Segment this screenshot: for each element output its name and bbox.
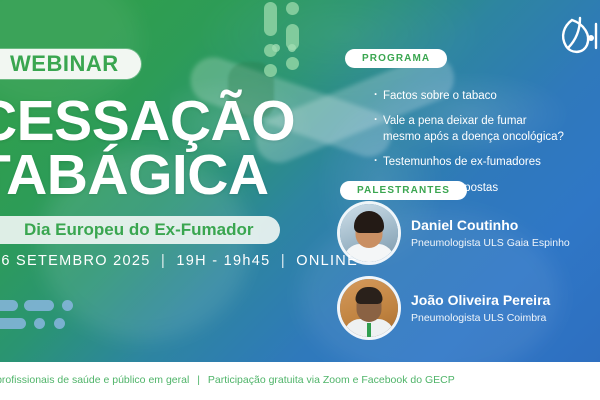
program-item-line-1: Testemunhos de ex-fumadores	[383, 156, 541, 168]
subtitle-label: Dia Europeu do Ex-Fumador	[24, 220, 254, 240]
event-date: 26 SETEMBRO 2025	[0, 253, 151, 269]
footer-access: Participação gratuita via Zoom e Faceboo…	[208, 374, 455, 386]
footer-bar: ara profissionais de saúde e público em …	[0, 362, 600, 400]
webinar-badge-label: WEBINAR	[10, 51, 119, 77]
speaker-name: João Oliveira Pereira	[411, 292, 550, 309]
footer-separator: |	[192, 374, 205, 386]
avatar-lanyard	[367, 323, 371, 337]
speakers-badge-label: PALESTRANTES	[357, 185, 450, 196]
event-separator: |	[156, 253, 171, 269]
speaker-card: João Oliveira Pereira Pneumologista ULS …	[340, 279, 550, 337]
program-badge: PROGRAMA	[345, 49, 447, 68]
footer-audience: ara profissionais de saúde e público em …	[0, 374, 189, 386]
subtitle-pill: Dia Europeu do Ex-Fumador	[0, 216, 280, 244]
list-item: Factos sobre o tabaco	[374, 88, 600, 104]
program-item-line-2: mesmo após a doença oncológica?	[383, 129, 600, 145]
footer-text: ara profissionais de saúde e público em …	[0, 374, 455, 386]
program-item-line-1: Vale a pena deixar de fumar	[383, 115, 527, 127]
avatar-hair	[356, 287, 383, 304]
list-item: Testemunhos de ex-fumadores	[374, 154, 600, 170]
speaker-name: Daniel Coutinho	[411, 217, 570, 234]
speaker-role: Pneumologista ULS Coimbra	[411, 312, 550, 324]
list-item: Vale a pena deixar de fumar mesmo após a…	[374, 113, 600, 146]
webinar-poster: WEBINAR CESSAÇÃO TABÁGICA Dia Europeu do…	[0, 0, 600, 400]
speaker-info: João Oliveira Pereira Pneumologista ULS …	[411, 292, 550, 324]
avatar-hair	[354, 211, 384, 233]
program-item-line-1: Factos sobre o tabaco	[383, 90, 497, 102]
avatar	[340, 204, 398, 262]
event-time: 19H - 19h45	[176, 253, 270, 269]
gecp-logo-icon	[550, 14, 600, 60]
speakers-badge: PALESTRANTES	[340, 181, 467, 200]
program-badge-label: PROGRAMA	[362, 53, 430, 64]
event-separator: |	[276, 253, 291, 269]
avatar	[340, 279, 398, 337]
webinar-badge: WEBINAR	[0, 49, 141, 79]
speaker-info: Daniel Coutinho Pneumologista ULS Gaia E…	[411, 217, 570, 249]
speaker-card: Daniel Coutinho Pneumologista ULS Gaia E…	[340, 204, 570, 262]
speaker-role: Pneumologista ULS Gaia Espinho	[411, 237, 570, 249]
event-details-bar: 26 SETEMBRO 2025 | 19H - 19h45 | ONLINE	[0, 253, 358, 269]
